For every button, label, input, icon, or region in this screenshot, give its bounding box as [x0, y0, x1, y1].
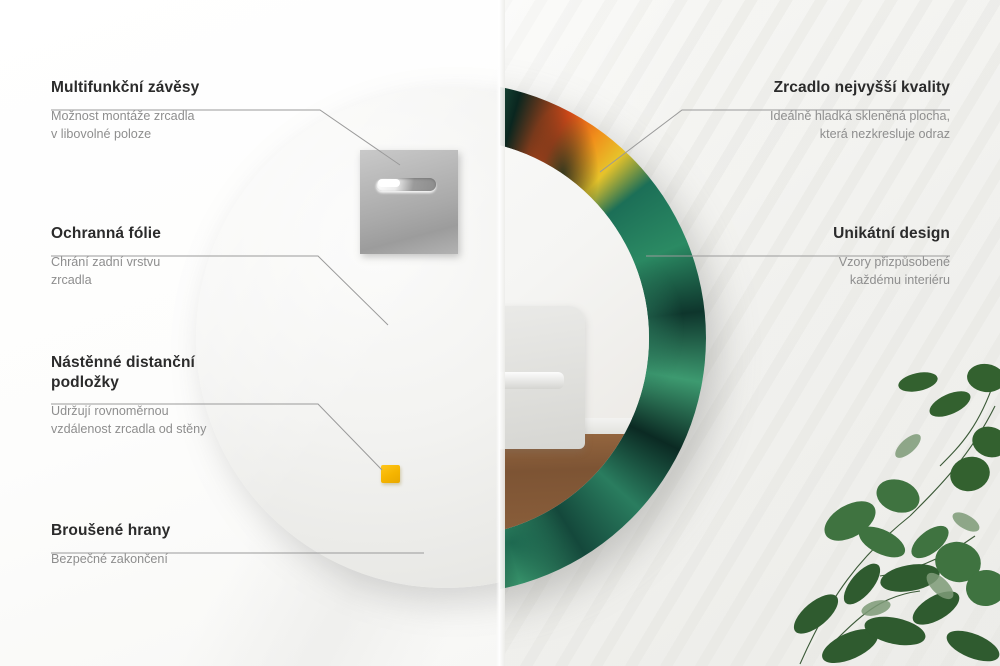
callout-multifunkcni-zavesy: Multifunkční závěsy Možnost montáže zrca…: [51, 78, 199, 143]
callout-brousene-hrany: Broušené hrany Bezpečné zakončení: [51, 521, 170, 568]
reflected-sofa: [500, 306, 585, 449]
callout-description: Vzory přizpůsobenékaždému interiéru: [833, 253, 950, 290]
callout-description: Možnost montáže zrcadlav libovolné poloz…: [51, 107, 199, 144]
callout-description: Bezpečné zakončení: [51, 550, 170, 568]
callout-title: Nástěnné distančnípodložky: [51, 353, 281, 393]
callout-unikatni-design: Unikátní design Vzory přizpůsobenékaždém…: [833, 224, 950, 289]
callout-title: Multifunkční závěsy: [51, 78, 199, 98]
mirror-glass-reflection: [500, 139, 649, 537]
callout-description: Chrání zadní vrstvuzrcadla: [51, 253, 161, 290]
foliage-decoration: [790, 346, 1000, 666]
panel-seam-divider: [496, 0, 505, 666]
callout-title: Unikátní design: [833, 224, 950, 244]
callout-title: Broušené hrany: [51, 521, 170, 541]
callout-title: Zrcadlo nejvyšší kvality: [770, 78, 950, 98]
infographic-canvas: Multifunkční závěsy Možnost montáže zrca…: [0, 0, 1000, 666]
callout-ochranna-folie: Ochranná fólie Chrání zadní vrstvuzrcadl…: [51, 224, 161, 289]
hanger-bracket: [360, 150, 458, 254]
callout-description: Ideálně hladká skleněná plocha,která nez…: [770, 107, 950, 144]
hanger-keyhole-slot: [376, 178, 436, 191]
callout-nastenne-distancni-podlozky: Nástěnné distančnípodložky Udržují rovno…: [51, 353, 281, 438]
reflected-wooden-floor: [500, 434, 649, 537]
callout-description: Udržují rovnoměrnouvzdálenost zrcadla od…: [51, 402, 281, 439]
framed-round-mirror: [500, 82, 706, 594]
callout-title: Ochranná fólie: [51, 224, 161, 244]
wall-spacer-pad: [381, 465, 400, 483]
callout-zrcadlo-nejvyssi-kvality: Zrcadlo nejvyšší kvality Ideálně hladká …: [770, 78, 950, 143]
